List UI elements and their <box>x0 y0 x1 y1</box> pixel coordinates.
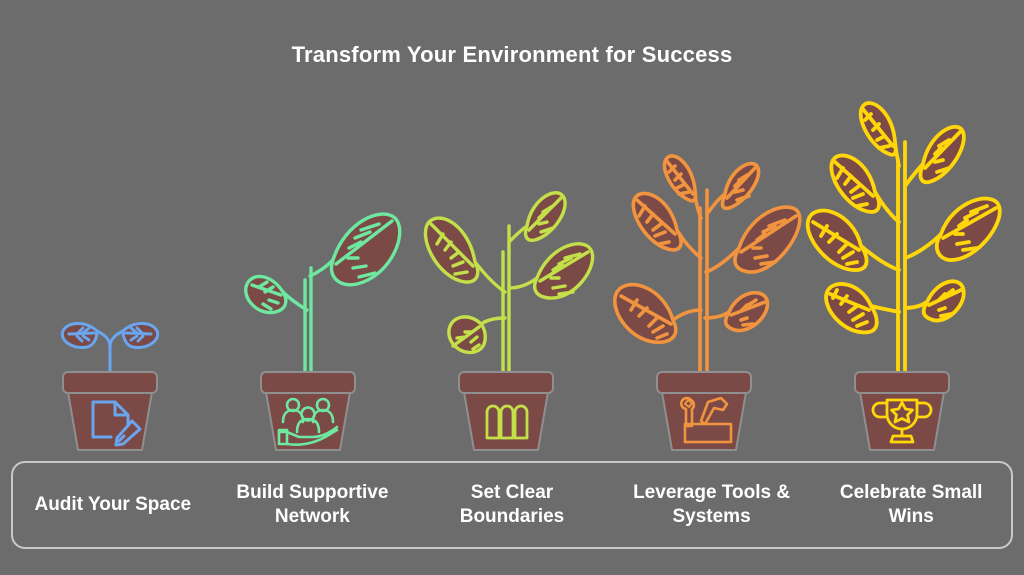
leaf-upper-left <box>831 155 879 212</box>
pot-rim <box>657 372 751 393</box>
stage-label-4[interactable]: Leverage Tools & Systems <box>612 481 812 530</box>
pot-rim <box>459 372 553 393</box>
stage-label-1[interactable]: Audit Your Space <box>13 493 213 517</box>
leaf-mid-left <box>615 285 676 343</box>
pot-rim <box>855 372 949 393</box>
stem <box>898 142 905 380</box>
leaf-lower-right <box>924 281 964 320</box>
plant-1 <box>62 323 157 375</box>
branch-b <box>673 310 701 320</box>
leaf-large-right <box>331 214 399 285</box>
stem <box>97 331 123 375</box>
leaf-upper-right <box>921 127 964 182</box>
growth-stage-3[interactable] <box>407 0 605 460</box>
plant-3 <box>425 193 592 380</box>
leaf-mid-left <box>425 218 477 282</box>
leaf-upper-right <box>735 207 800 272</box>
plant-2 <box>246 214 400 378</box>
leaf-top <box>861 103 896 155</box>
infographic-canvas: Transform Your Environment for Success <box>0 0 1024 575</box>
pot-3 <box>459 372 553 450</box>
growth-stage-row <box>0 0 1024 460</box>
stage-label-bar: Audit Your Space Build Supportive Networ… <box>11 461 1013 549</box>
pot-4 <box>657 372 751 450</box>
leaf-mid-upper-left <box>633 193 681 250</box>
plant-5 <box>808 103 1000 380</box>
leaf-lower-left <box>449 317 485 353</box>
leaf-small-left <box>246 276 286 312</box>
leaf-left <box>62 323 97 347</box>
leaf-top-right <box>526 193 566 241</box>
growth-stage-4[interactable] <box>605 0 803 460</box>
stem <box>305 268 311 378</box>
growth-stage-2[interactable] <box>209 0 407 460</box>
leaf-lower-right <box>726 293 768 331</box>
growth-stage-1[interactable] <box>11 0 209 460</box>
pot-rim <box>261 372 355 393</box>
stem <box>503 226 509 380</box>
leaf-top-left <box>664 156 695 201</box>
leaf-lower-left <box>826 284 877 332</box>
pot-2 <box>261 372 355 450</box>
leaf-top-right <box>722 164 758 209</box>
leaf-mid-left <box>808 211 867 271</box>
stage-label-5[interactable]: Celebrate Small Wins <box>811 481 1011 530</box>
stage-label-2[interactable]: Build Supportive Network <box>213 481 413 530</box>
plant-4 <box>615 156 800 380</box>
pot-1 <box>63 372 157 450</box>
pot-5 <box>855 372 949 450</box>
branch-b <box>475 262 505 292</box>
leaf-mid-right <box>937 199 1000 261</box>
branch-right <box>310 260 333 276</box>
growth-stage-5[interactable] <box>803 0 1001 460</box>
stage-label-3[interactable]: Set Clear Boundaries <box>412 481 612 530</box>
branch-c <box>509 278 537 288</box>
pot-rim <box>63 372 157 393</box>
leaf-mid-right <box>535 244 593 298</box>
leaf-right <box>123 323 158 347</box>
